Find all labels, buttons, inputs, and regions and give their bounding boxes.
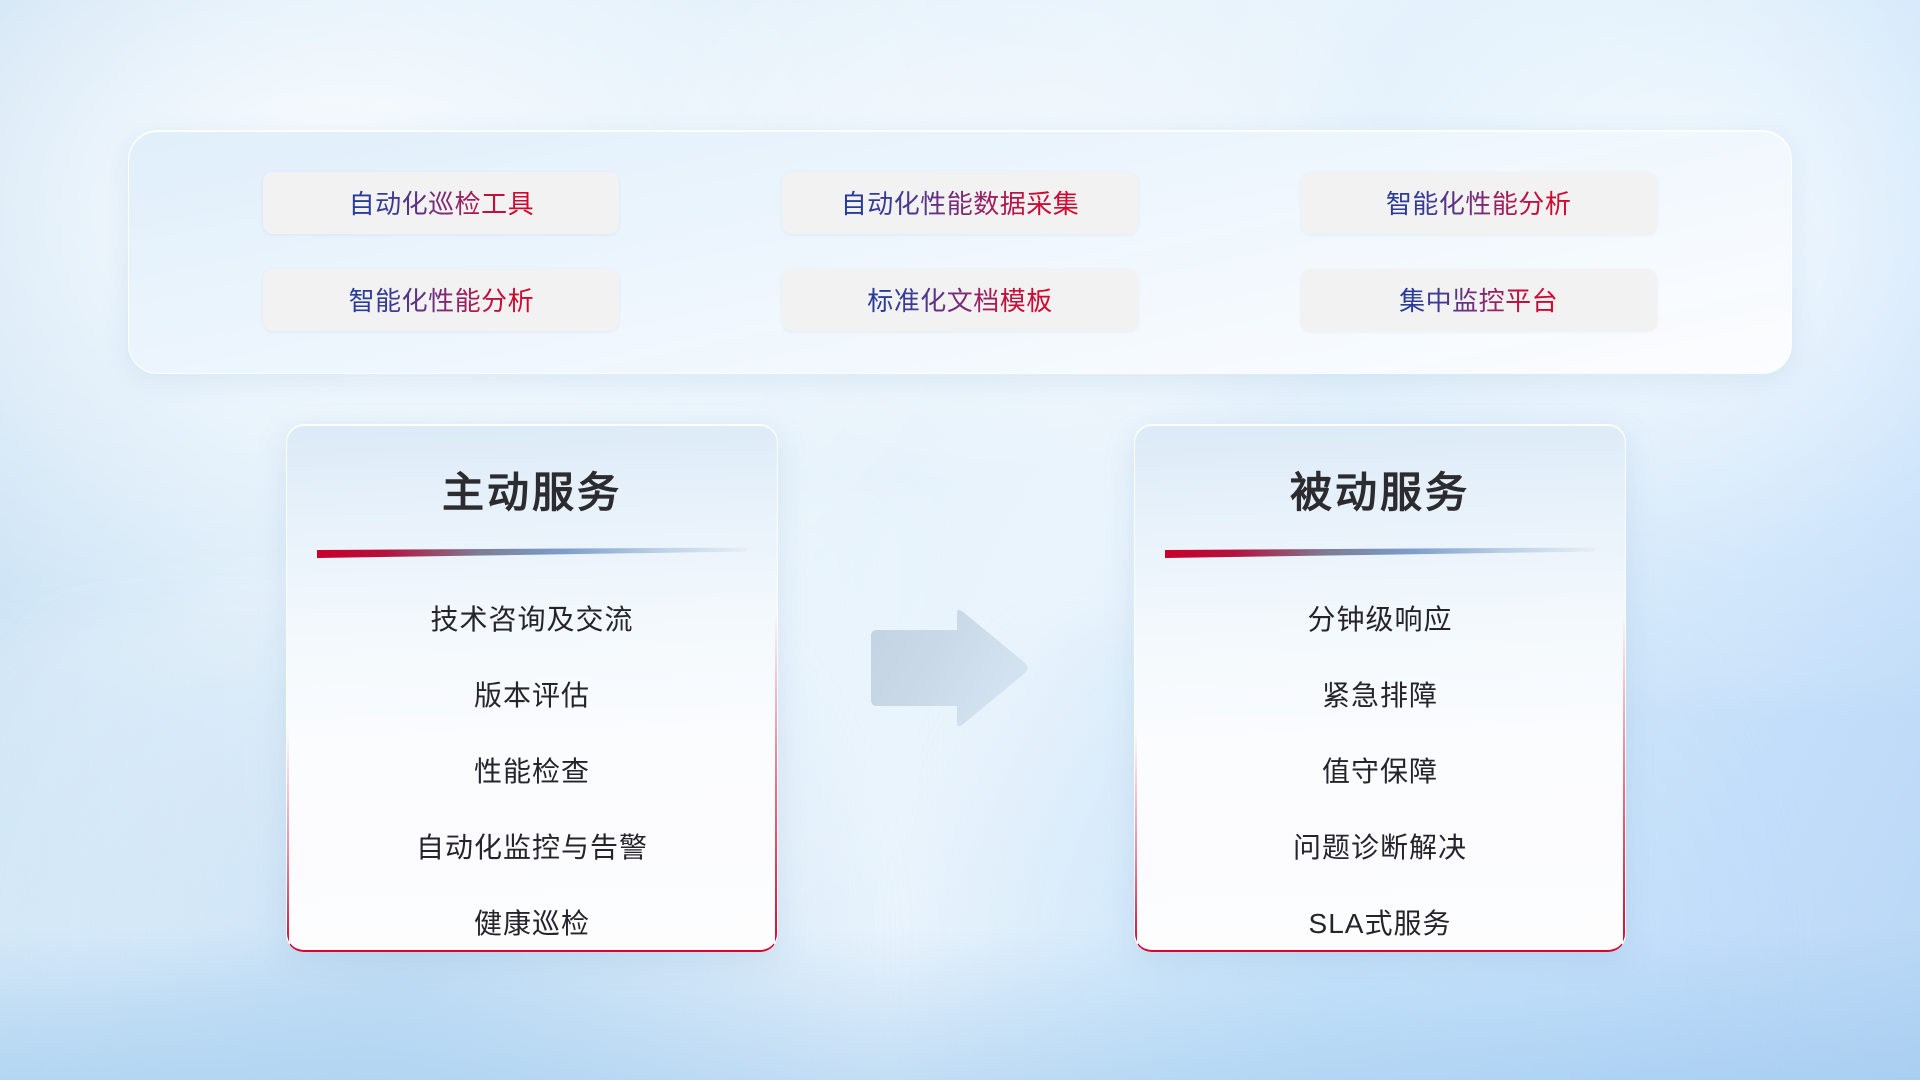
capability-pill[interactable]: 智能化性能分析 — [1301, 172, 1657, 234]
capability-pill-label: 自动化巡检工具 — [349, 184, 535, 221]
gradient-divider — [1165, 546, 1595, 562]
service-item-list: 分钟级响应 紧急排障 值守保障 问题诊断解决 SLA式服务 — [1135, 592, 1625, 952]
service-item-list: 技术咨询及交流 版本评估 性能检查 自动化监控与告警 健康巡检 — [287, 592, 777, 952]
service-item: 自动化监控与告警 — [287, 820, 777, 876]
capability-pill-label: 智能化性能分析 — [1386, 184, 1572, 221]
card-title: 被动服务 — [1135, 459, 1625, 520]
service-item: 紧急排障 — [1135, 668, 1625, 724]
capability-pill[interactable]: 集中监控平台 — [1301, 269, 1657, 331]
capability-pill-label: 自动化性能数据采集 — [841, 184, 1080, 221]
capability-pill[interactable]: 自动化性能数据采集 — [782, 172, 1138, 234]
capability-pill[interactable]: 标准化文档模板 — [782, 269, 1138, 331]
capability-pill[interactable]: 自动化巡检工具 — [263, 172, 619, 234]
card-title: 主动服务 — [287, 459, 777, 520]
service-item: 值守保障 — [1135, 744, 1625, 800]
gradient-divider — [317, 546, 747, 562]
background-bottom-band — [0, 929, 1920, 1080]
service-item: 分钟级响应 — [1135, 592, 1625, 648]
capability-pill-label: 集中监控平台 — [1399, 281, 1558, 318]
service-card-passive: 被动服务 分钟级响应 紧急排障 值守保障 问题诊断解决 SLA式服务 — [1134, 424, 1626, 952]
service-item: SLA式服务 — [1135, 896, 1625, 952]
service-item: 问题诊断解决 — [1135, 820, 1625, 876]
capability-pill-label: 智能化性能分析 — [349, 281, 535, 318]
service-item: 性能检查 — [287, 744, 777, 800]
right-arrow-icon — [865, 608, 1030, 728]
capability-panel: 自动化巡检工具 自动化性能数据采集 智能化性能分析 智能化性能分析 标准化文档模… — [128, 130, 1792, 374]
capability-pill[interactable]: 智能化性能分析 — [263, 269, 619, 331]
service-item: 健康巡检 — [287, 896, 777, 952]
capability-pill-label: 标准化文档模板 — [867, 281, 1053, 318]
service-card-active: 主动服务 技术咨询及交流 版本评估 性能检查 自动化监控与告警 健康巡检 — [286, 424, 778, 952]
capability-pill-grid: 自动化巡检工具 自动化性能数据采集 智能化性能分析 智能化性能分析 标准化文档模… — [129, 131, 1791, 373]
service-item: 版本评估 — [287, 668, 777, 724]
service-item: 技术咨询及交流 — [287, 592, 777, 648]
